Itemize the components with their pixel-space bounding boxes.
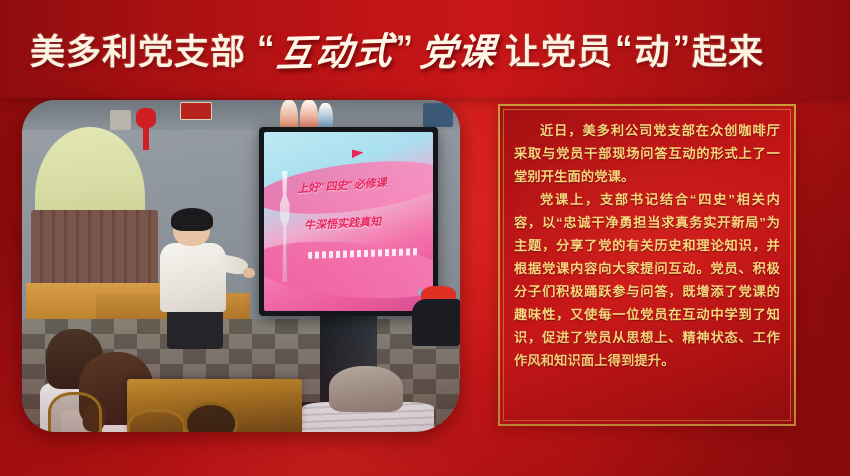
photo-black-chair <box>412 299 460 345</box>
photo-ceiling <box>22 100 460 130</box>
event-photo: 上好“四史”必修课 牛深悟实践真知 <box>22 100 460 432</box>
photo-gold-chair-1 <box>48 392 102 432</box>
page-title: 美多利党支部 “ 互动式 ” 党课 让党员 “ 动 ” 起来 <box>0 0 850 98</box>
photo-red-lantern-icon <box>136 108 156 128</box>
article-body: 近日，美多利公司党支部在众创咖啡厅采取与党员干部现场问答互动的形式上了一堂别开生… <box>514 119 780 414</box>
photo-screen-headline-2: 牛深悟实践真知 <box>304 211 430 234</box>
photo-attendee-3-head <box>329 366 403 412</box>
title-quote-close: ” <box>394 29 416 69</box>
title-quote-open: “ <box>255 29 277 69</box>
article-paragraph-2: 党课上，支部书记结合“四史”相关内容，以“忠诚干净勇担当求真务实开新局”为主题，… <box>514 188 780 372</box>
poster-root: 美多利党支部 “ 互动式 ” 党课 让党员 “ 动 ” 起来 <box>0 0 850 476</box>
title-segment-org: 美多利党支部 <box>30 24 246 75</box>
photo-wall-sign <box>180 102 213 121</box>
photo-gold-chair-2 <box>127 409 186 432</box>
photo-presentation-screen: 上好“四史”必修课 牛深悟实践真知 <box>259 127 439 316</box>
title-segment-let-members: 让党员 <box>505 24 613 75</box>
photo-booth-back <box>31 210 158 290</box>
photo-wall-shelf <box>423 103 454 126</box>
photo-screen-content: 上好“四史”必修课 牛深悟实践真知 <box>264 132 434 311</box>
photo-presenter-hand <box>243 268 254 279</box>
article-paragraph-1: 近日，美多利公司党支部在众创咖啡厅采取与党员干部现场问答互动的形式上了一堂别开生… <box>514 119 780 188</box>
photo-wall-box-decor <box>110 110 132 130</box>
title-segment-lesson: 党课 <box>418 21 498 76</box>
photo-screen-wave-bottom <box>264 234 434 305</box>
title-quote-open-2: “ <box>613 29 635 69</box>
photo-presenter-legs <box>167 306 224 349</box>
photo-scene: 上好“四史”必修课 牛深悟实践真知 <box>22 100 460 432</box>
title-quote-close-2: ” <box>671 29 693 69</box>
article-panel: 近日，美多利公司党支部在众创咖啡厅采取与党员干部现场问答互动的形式上了一堂别开生… <box>498 104 796 426</box>
photo-presenter-body <box>160 243 226 313</box>
photo-lantern-tassel <box>143 127 149 150</box>
title-segment-rise: 起来 <box>692 24 764 75</box>
title-highlight-move: 动 <box>635 24 671 75</box>
title-highlight-interactive: 互动式 <box>274 20 396 77</box>
photo-presenter-glasses-icon <box>182 225 208 233</box>
